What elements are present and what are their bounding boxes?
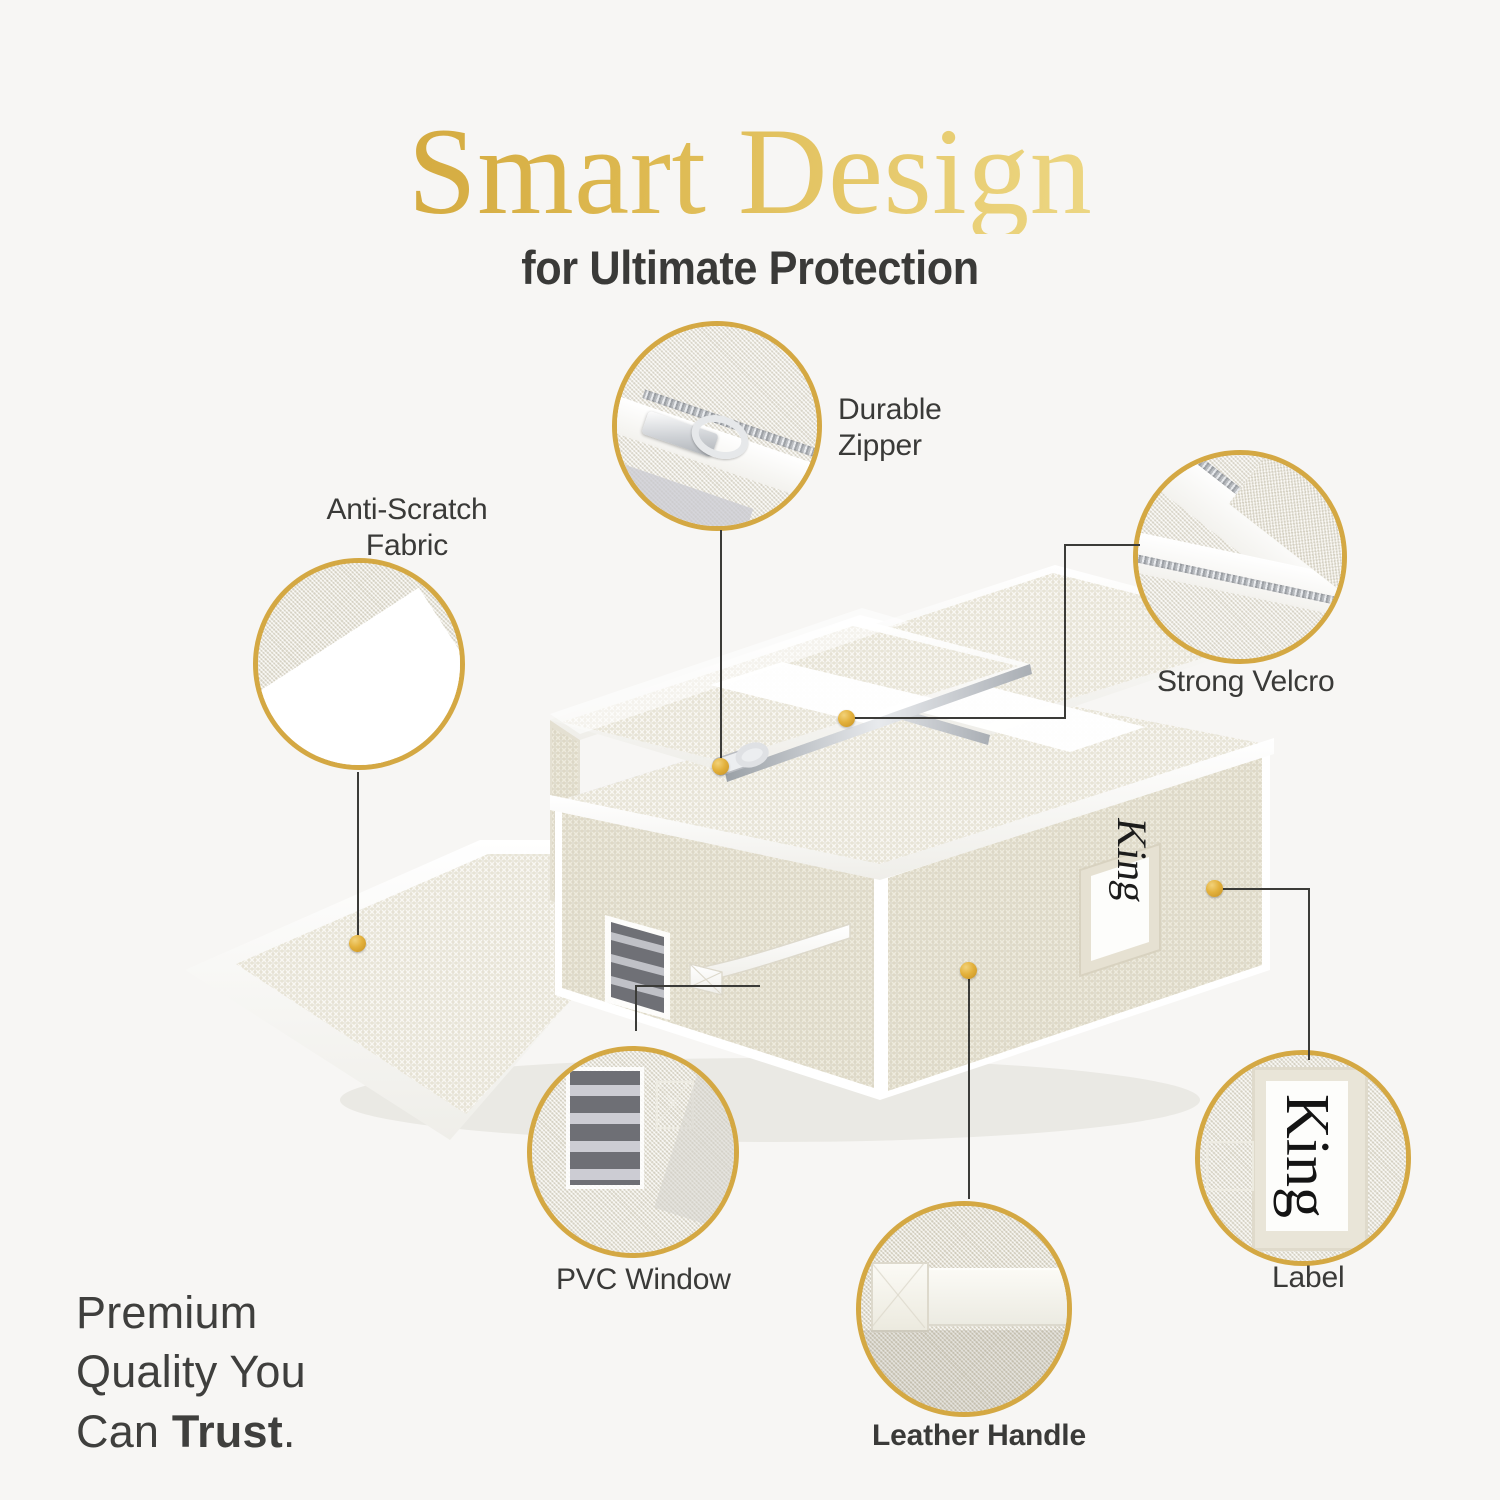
callout-inset-durable-zipper — [612, 321, 822, 531]
anchor-dot-label — [1206, 880, 1223, 897]
tagline-trust-word: Trust — [172, 1406, 283, 1457]
tagline-line-3: Can Trust. — [76, 1402, 306, 1461]
leader-line-durable-zipper — [720, 530, 722, 764]
anchor-dot-strong-velcro — [838, 710, 855, 727]
callout-label-anti-scratch-fabric: Anti-Scratch Fabric — [277, 492, 537, 564]
infographic-canvas: Smart Design for Ultimate Protection — [0, 0, 1500, 1500]
header: Smart Design for Ultimate Protection — [0, 110, 1500, 295]
king-label-text: King — [1232, 1115, 1382, 1197]
leader-line-strong-velcro-top — [1064, 544, 1140, 546]
leader-line-leather-handle — [968, 977, 970, 1199]
svg-text:King: King — [1108, 815, 1155, 906]
callout-label-strong-velcro: Strong Velcro — [1157, 664, 1417, 700]
page-subtitle: for Ultimate Protection — [60, 240, 1440, 295]
callout-inset-label: King — [1195, 1050, 1411, 1266]
callout-label-pvc-window: PVC Window — [556, 1262, 816, 1298]
tagline-line-3-prefix: Can — [76, 1406, 172, 1457]
callout-label-leather-handle: Leather Handle — [872, 1418, 1152, 1454]
callout-inset-anti-scratch-fabric — [253, 558, 465, 770]
tagline-line-3-suffix: . — [283, 1406, 296, 1457]
leader-line-pvc-window-top — [635, 985, 760, 987]
anchor-dot-durable-zipper — [712, 758, 729, 775]
callout-inset-strong-velcro — [1133, 450, 1347, 664]
leader-line-strong-velcro-bottom — [846, 717, 1066, 719]
callout-inset-pvc-window — [527, 1046, 739, 1258]
tagline-line-2: Quality You — [76, 1342, 306, 1401]
leader-line-pvc-window-vertical — [635, 985, 637, 1031]
anchor-dot-anti-scratch-fabric — [349, 935, 366, 952]
leader-line-label-vertical — [1308, 888, 1310, 1060]
page-title: Smart Design — [0, 110, 1500, 234]
leader-line-label-horizontal — [1222, 888, 1310, 890]
anchor-dot-leather-handle — [960, 962, 977, 979]
tagline-line-1: Premium — [76, 1283, 306, 1342]
callout-inset-leather-handle — [856, 1201, 1072, 1417]
tagline: Premium Quality You Can Trust. — [76, 1283, 306, 1461]
leader-line-strong-velcro-vertical — [1064, 544, 1066, 719]
callout-label-durable-zipper: Durable Zipper — [838, 392, 1068, 464]
callout-label-label: Label — [1272, 1260, 1472, 1296]
leader-line-anti-scratch-fabric — [357, 772, 359, 941]
